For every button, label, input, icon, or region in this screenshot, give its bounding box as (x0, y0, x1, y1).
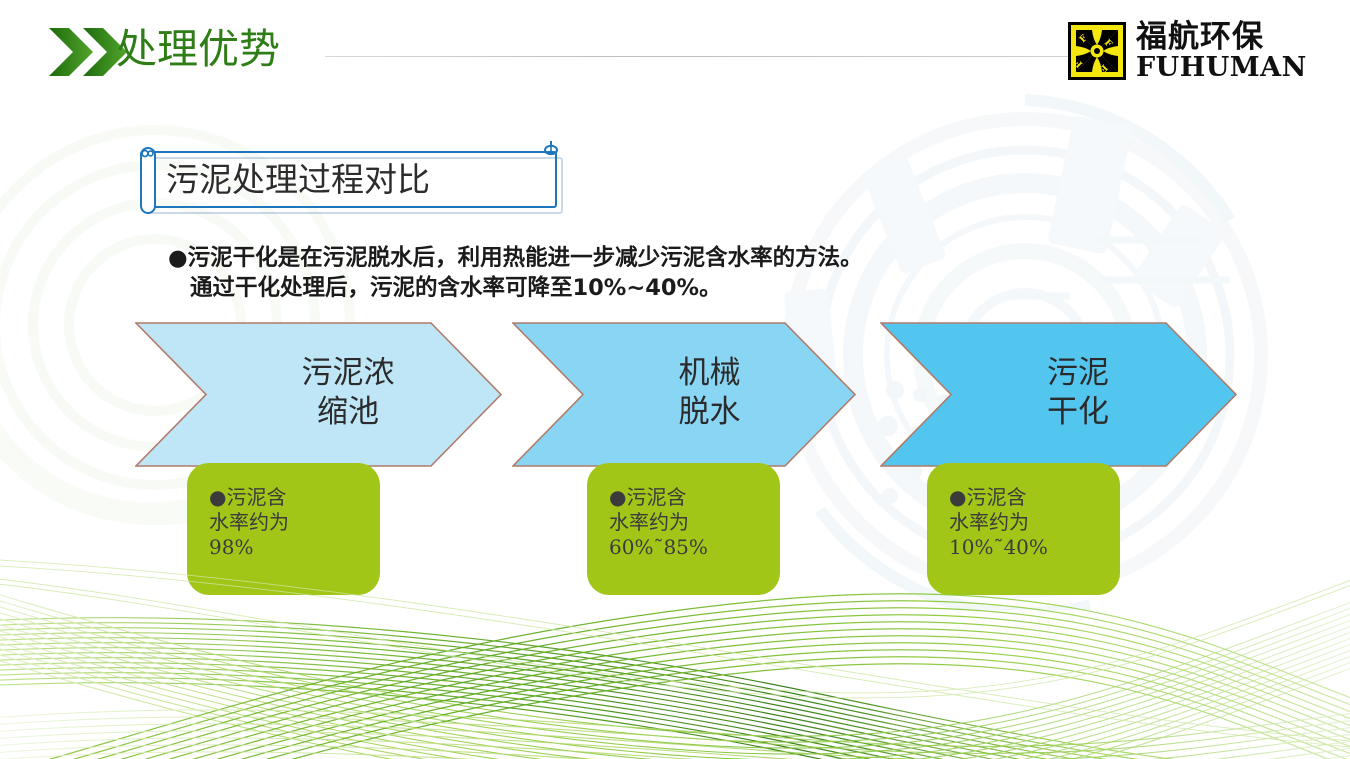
flow-step-2-label: 机械 脱水 (512, 354, 857, 432)
flow-step-3-label-line2: 干化 (918, 393, 1238, 432)
slide-header: 处理优势 F F F F (0, 0, 1350, 100)
flow-step-2-label-line1: 机械 (562, 354, 857, 393)
flow-step-1[interactable]: 污泥浓 缩池 (135, 322, 503, 467)
paragraph-bullet: ● (168, 245, 188, 271)
paragraph-line-2: 通过干化处理后，污泥的含水率可降至10%~40%。 (168, 273, 1058, 303)
note-card-1-line3: 98% (209, 535, 380, 560)
flow-step-3-label: 污泥 干化 (880, 354, 1238, 432)
flow-step-2-label-line2: 脱水 (562, 393, 857, 432)
flow-step-2[interactable]: 机械 脱水 (512, 322, 857, 467)
paragraph-line-1-text: 污泥干化是在污泥脱水后，利用热能进一步减少污泥含水率的方法。 (188, 245, 863, 271)
flow-step-1-label-line2: 缩池 (193, 393, 503, 432)
flow-step-3[interactable]: 污泥 干化 (880, 322, 1238, 467)
flow-step-1-label: 污泥浓 缩池 (135, 354, 503, 432)
page-title: 处理优势 (116, 23, 280, 75)
note-card-1-line1: ●污泥含 (209, 485, 380, 510)
header-divider (325, 56, 1070, 57)
logo-name-en: FUHUMAN (1136, 53, 1307, 83)
note-card-3-line1: ●污泥含 (949, 485, 1120, 510)
logo-name-cn: 福航环保 (1136, 20, 1264, 54)
title-box-pin-left-icon (141, 145, 154, 154)
section-title-text: 污泥处理过程对比 (166, 157, 430, 202)
title-box-pin-right-icon (543, 141, 559, 155)
note-card-3-line2: 水率约为 (949, 510, 1120, 535)
note-card-2-line1: ●污泥含 (609, 485, 780, 510)
slide-canvas: 处理优势 F F F F (0, 0, 1350, 759)
note-card-2[interactable]: ●污泥含 水率约为 60%˜85% (587, 463, 780, 595)
note-card-2-line3: 60%˜85% (609, 535, 780, 560)
description-paragraph: ●污泥干化是在污泥脱水后，利用热能进一步减少污泥含水率的方法。 通过干化处理后，… (168, 243, 1058, 303)
note-card-2-line2: 水率约为 (609, 510, 780, 535)
note-card-1[interactable]: ●污泥含 水率约为 98% (187, 463, 380, 595)
note-card-3[interactable]: ●污泥含 水率约为 10%˜40% (927, 463, 1120, 595)
paragraph-line-1: ●污泥干化是在污泥脱水后，利用热能进一步减少污泥含水率的方法。 (168, 245, 863, 271)
note-card-3-line3: 10%˜40% (949, 535, 1120, 560)
flow-step-3-label-line1: 污泥 (918, 354, 1238, 393)
process-flow: 污泥浓 缩池 机械 脱水 污泥 干化 (0, 322, 1350, 482)
note-card-1-line2: 水率约为 (209, 510, 380, 535)
flow-step-1-label-line1: 污泥浓 (193, 354, 503, 393)
fuhuman-pinwheel-logo-icon: F F F F (1068, 22, 1126, 80)
company-logo: F F F F 福航环保 FUHUMAN (1068, 22, 1263, 84)
